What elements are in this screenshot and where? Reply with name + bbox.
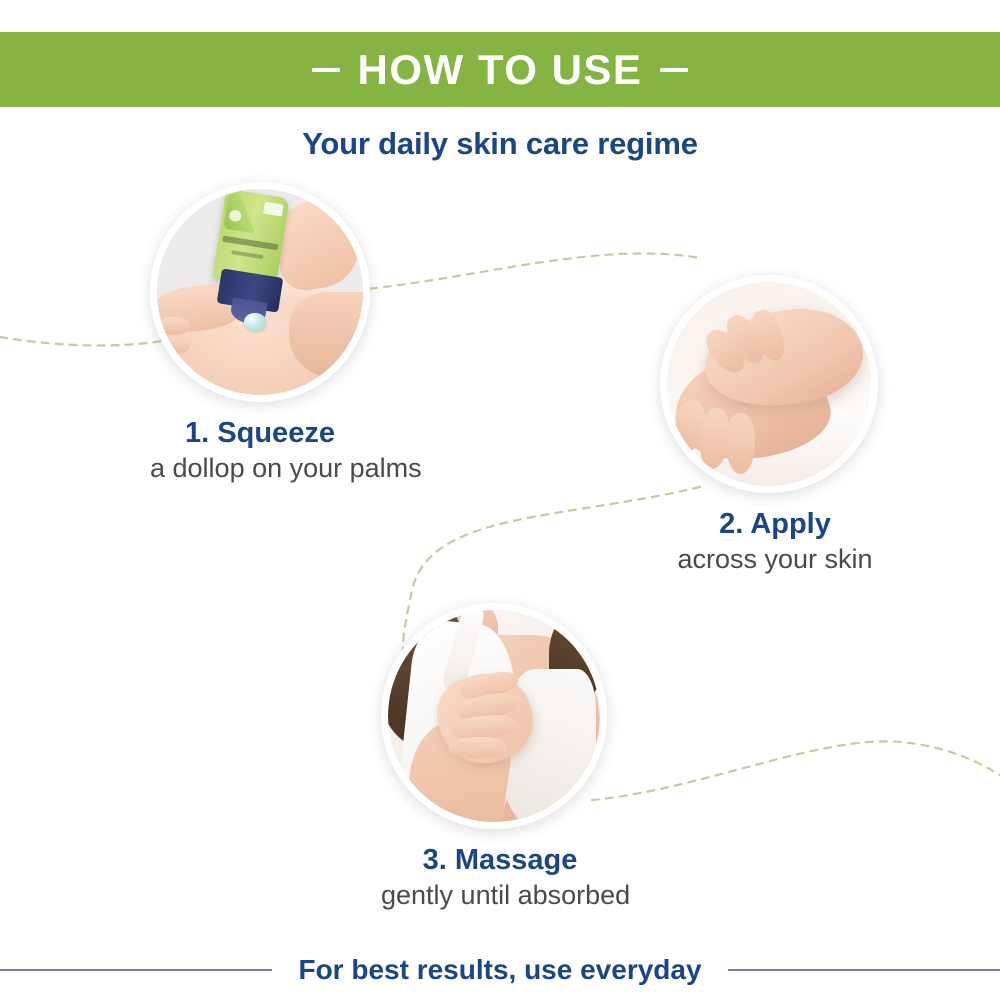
step-2-title: 2. Apply [660,507,890,541]
finger-shape-1 [157,317,190,336]
finger-shape-2 [159,337,190,353]
step-2-photo-inner [667,282,871,486]
product-subtagline [231,250,263,259]
footer-rule-left [0,969,272,971]
header-banner-inner: HOW TO USE [312,49,689,91]
dash-left-icon [312,68,340,72]
footer-text: For best results, use everyday [272,954,727,986]
step-2-photo[interactable] [660,275,878,493]
step-1-description: a dollop on your palms [150,452,370,484]
product-tagline [222,236,278,251]
step-1-photo[interactable] [150,182,370,402]
step-3-title: 3. Massage [381,843,619,877]
step-3-description: gently until absorbed [381,879,619,911]
step-2[interactable]: 2. Apply across your skin [660,275,890,576]
dash-right-icon [660,68,688,72]
dash-path-exit [592,741,1000,800]
product-logo [263,202,284,217]
footer: For best results, use everyday [0,948,1000,992]
step-1-title: 1. Squeeze [150,416,370,450]
step-2-description: across your skin [660,543,890,575]
step-1[interactable]: 1. Squeeze a dollop on your palms [150,182,370,485]
footer-rule-right [728,969,1000,971]
step-3-caption: 3. Massage gently until absorbed [381,843,619,912]
dash-path-1-2 [356,253,700,290]
page-title: HOW TO USE [358,49,643,91]
header-banner: HOW TO USE [0,32,1000,107]
step-3[interactable]: 3. Massage gently until absorbed [381,603,619,912]
page-subtitle: Your daily skin care regime [0,126,1000,162]
step-2-caption: 2. Apply across your skin [660,507,890,576]
step-1-caption: 1. Squeeze a dollop on your palms [150,416,370,485]
dash-path-entry [0,337,162,346]
gel-dollop-shape [244,313,267,332]
step-3-photo-inner [388,610,600,822]
step-1-photo-inner [157,189,363,395]
lower-finger-3 [726,413,755,474]
step-3-photo[interactable] [381,603,607,829]
how-to-use-infographic: HOW TO USE Your daily skin care regime [0,0,1000,1000]
